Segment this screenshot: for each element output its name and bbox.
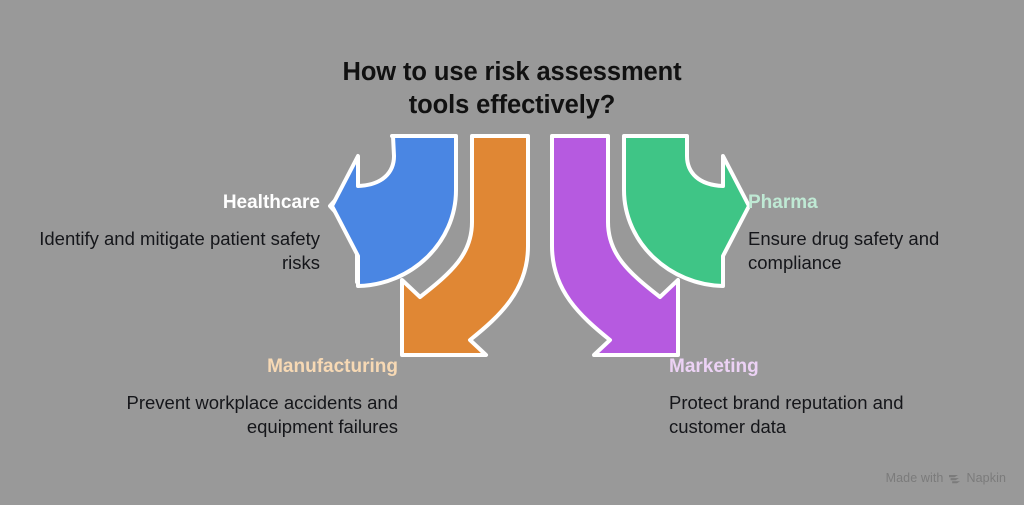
branch-healthcare-label: Healthcare: [8, 191, 320, 215]
watermark-brand: Napkin: [966, 471, 1006, 485]
branch-manufacturing: Manufacturing Prevent workplace accident…: [88, 355, 398, 440]
watermark: Made with Napkin: [886, 471, 1006, 485]
branch-manufacturing-label: Manufacturing: [88, 355, 398, 379]
napkin-logo-icon: [948, 472, 961, 485]
branch-pharma: Pharma Ensure drug safety and compliance: [748, 191, 1016, 276]
branch-marketing-label: Marketing: [669, 355, 969, 379]
branch-healthcare-description: Identify and mitigate patient safety ris…: [8, 215, 320, 276]
branch-pharma-description: Ensure drug safety and compliance: [748, 215, 1016, 276]
branch-manufacturing-description: Prevent workplace accidents and equipmen…: [88, 379, 398, 440]
diagram-canvas: How to use risk assessment tools effecti…: [0, 0, 1024, 505]
branch-marketing-description: Protect brand reputation and customer da…: [669, 379, 969, 440]
branch-marketing: Marketing Protect brand reputation and c…: [669, 355, 969, 440]
arrow-healthcare-main[interactable]: [332, 136, 456, 286]
watermark-prefix: Made with: [886, 471, 944, 485]
branch-healthcare: Healthcare Identify and mitigate patient…: [8, 191, 320, 276]
branch-pharma-label: Pharma: [748, 191, 1016, 215]
arrow-pharma[interactable]: [624, 136, 749, 286]
